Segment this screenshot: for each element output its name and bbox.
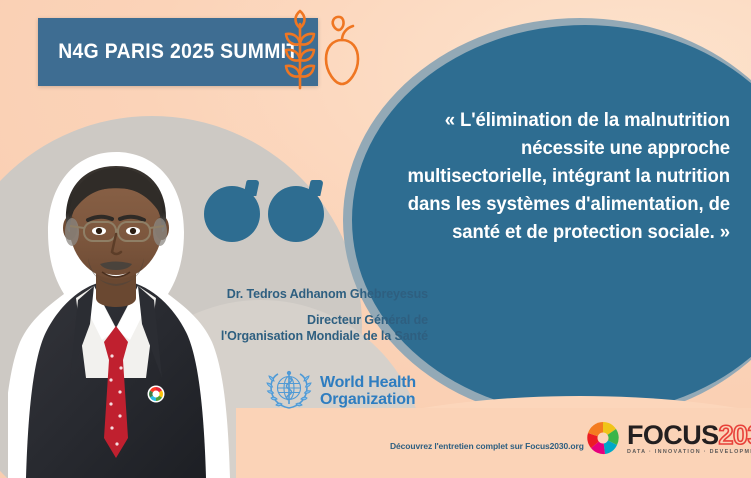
- food-icons-group: [278, 8, 370, 94]
- quote-card: N4G PARIS 2025 SUMMIT «: [0, 0, 751, 478]
- attribution-role-line1: Directeur Général de: [0, 312, 428, 328]
- focus2030-tagline: DATA · INNOVATION · DEVELOPMENT: [627, 449, 751, 455]
- focus2030-wordmark: FOCUS2030: [627, 422, 751, 448]
- quote-mark-left: [204, 186, 260, 242]
- who-logo: World Health Organization: [266, 368, 416, 414]
- decorative-quotation-marks: [204, 186, 328, 248]
- wheat-stalk-icon: [286, 11, 314, 88]
- quote-mark-right: [268, 186, 324, 242]
- footer-note: Découvrez l'entretien complet sur Focus2…: [390, 441, 584, 451]
- attribution: Dr. Tedros Adhanom Ghebreyesus Directeur…: [0, 286, 428, 344]
- quote-text: « L'élimination de la malnutrition néces…: [396, 106, 730, 246]
- apple-icon: [326, 17, 358, 84]
- focus-swirl-icon: [586, 421, 620, 455]
- who-emblem-icon: [266, 368, 312, 414]
- focus-word-year: 2030: [719, 420, 751, 450]
- summit-banner: N4G PARIS 2025 SUMMIT: [38, 18, 318, 86]
- attribution-role-line2: l'Organisation Mondiale de la Santé: [0, 328, 428, 344]
- attribution-name: Dr. Tedros Adhanom Ghebreyesus: [0, 286, 428, 303]
- focus-word-main: FOCUS: [627, 420, 719, 450]
- focus2030-logo: FOCUS2030 DATA · INNOVATION · DEVELOPMEN…: [586, 421, 751, 455]
- summit-banner-title: N4G PARIS 2025 SUMMIT: [38, 40, 299, 64]
- who-logo-line1: World Health: [320, 374, 416, 391]
- who-logo-line2: Organization: [320, 391, 416, 408]
- who-logo-text: World Health Organization: [320, 374, 416, 408]
